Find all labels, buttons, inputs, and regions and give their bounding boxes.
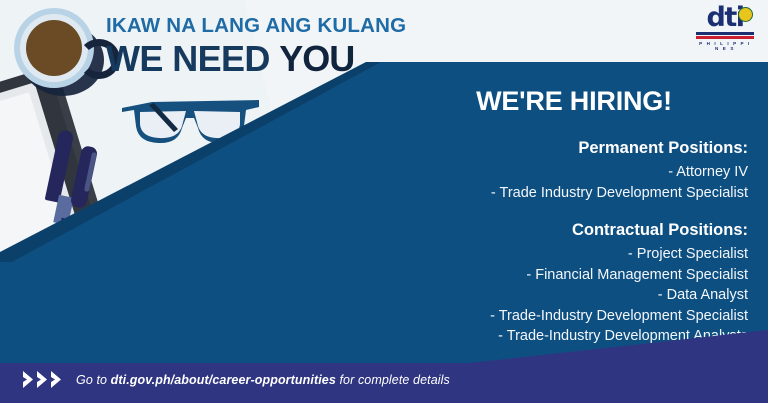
position-group-permanent: Permanent Positions: - Attorney IV - Tra… [400, 139, 748, 203]
list-item: - Financial Management Specialist [400, 265, 748, 286]
footer-url[interactable]: dti.gov.ph/about/career-opportunities [111, 373, 336, 387]
dti-country-label: P H I L I P P I N E S [696, 41, 754, 51]
headline-main: WE NEED YOU [106, 40, 376, 77]
dti-seal-emblem-icon [738, 7, 753, 22]
group-spacer [400, 203, 748, 221]
headline-subline: IKAW NA LANG ANG KULANG [106, 16, 376, 37]
headline-block: IKAW NA LANG ANG KULANG WE NEED YOU [106, 16, 376, 77]
coffee-liquid [26, 20, 82, 76]
dti-bar-red [696, 36, 754, 39]
chevron-right-icon [36, 371, 49, 388]
group-heading: Contractual Positions: [400, 221, 748, 240]
headline-main-first: WE NEED [106, 38, 279, 79]
list-item: - Trade Industry Development Specialist [400, 183, 748, 204]
footer-prefix: Go to [76, 373, 111, 387]
chevron-group [22, 371, 63, 388]
hiring-banner: IKAW NA LANG ANG KULANG WE NEED YOU dti … [0, 0, 768, 403]
chevron-right-icon [50, 371, 63, 388]
list-item: - Attorney IV [400, 162, 748, 183]
list-item: - Trade-Industry Development Specialist [400, 306, 748, 327]
group-heading: Permanent Positions: [400, 139, 748, 158]
chevron-right-icon [22, 371, 35, 388]
list-item: - Data Analyst [400, 285, 748, 306]
footer-text: Go to dti.gov.ph/about/career-opportunit… [76, 373, 450, 387]
headline-main-emphasis: YOU [279, 38, 354, 79]
page-title: WE'RE HIRING! [400, 86, 748, 117]
dti-logo[interactable]: dti P H I L I P P I N E S [696, 6, 754, 51]
footer-suffix: for complete details [336, 373, 450, 387]
footer-content: Go to dti.gov.ph/about/career-opportunit… [22, 371, 450, 388]
list-item: - Project Specialist [400, 244, 748, 265]
